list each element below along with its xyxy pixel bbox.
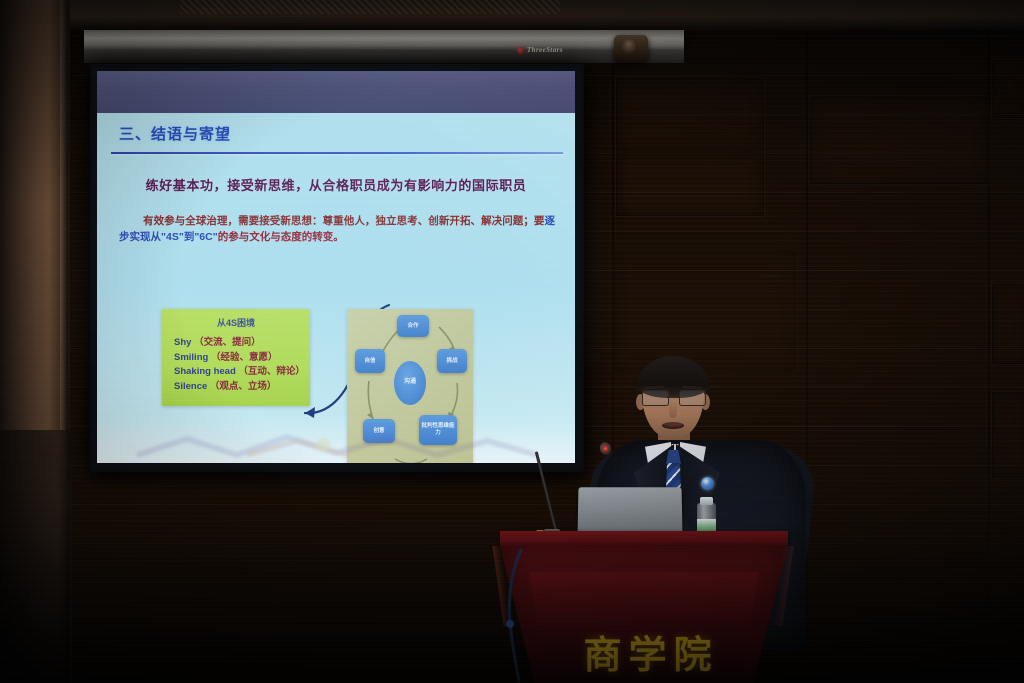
slide-title: 三、结语与寄望: [119, 123, 231, 144]
microphone-status-led: [603, 446, 608, 451]
mouth: [662, 422, 684, 429]
wall-panel-inset: [992, 60, 1024, 118]
nose: [669, 402, 677, 418]
diagram-center-node: 沟通: [394, 361, 426, 405]
diagram-node-left: 自信: [355, 349, 385, 373]
slide-headline: 练好基本功，接受新思维，从合格职员成为有影响力的国际职员: [97, 175, 575, 194]
wall-vertical-joint: [988, 0, 990, 683]
body-quote-4s: "4S": [161, 231, 184, 243]
bottle-cap: [700, 497, 713, 505]
slide-title-divider: [111, 152, 563, 154]
diagram-node-right: 挑战: [437, 349, 467, 373]
body-prefix: 有效参与全球治理，需要接受新思想：尊重他人，独立思考、创新开拓、解决问题；要: [143, 215, 545, 227]
body-quote-6c: "6C": [194, 231, 217, 243]
body-mid: 到: [184, 231, 195, 243]
round-blue-badge-icon: [701, 477, 714, 490]
lecture-hall-photo: ThreeStars 三、结语与寄望 练好基本功，接受新思维，从合格职员成为有影…: [0, 0, 1024, 683]
lens-right: [679, 390, 706, 406]
wall-panel-inset: [992, 284, 1024, 364]
body-suffix: 的参与文化与态度的转变。: [218, 231, 344, 243]
slide-header-band: [97, 71, 575, 113]
wall-panel-inset: [616, 152, 764, 216]
ceiling: [0, 0, 1024, 30]
slide-body-text: 有效参与全球治理，需要接受新思想：尊重他人，独立思考、创新开拓、解决问题；要逐步…: [119, 213, 555, 246]
diagram-node-top: 合作: [397, 315, 429, 337]
presentation-slide: 三、结语与寄望 练好基本功，接受新思维，从合格职员成为有影响力的国际职员 有效参…: [97, 71, 575, 463]
star-logo-icon: [517, 47, 524, 54]
lens-left: [642, 390, 669, 406]
podium-desktop: [500, 531, 788, 548]
pillar-shading: [0, 0, 70, 683]
projection-screen: 三、结语与寄望 练好基本功，接受新思维，从合格职员成为有影响力的国际职员 有效参…: [90, 64, 584, 472]
podium-inscription: 商学院: [566, 624, 736, 679]
projector-brand-label: ThreeStars: [527, 46, 563, 54]
laptop-lid: [578, 487, 683, 535]
ceiling-texture: [180, 0, 560, 14]
projector-valance: [84, 30, 684, 52]
wall-vertical-joint: [806, 0, 808, 683]
wall-panel-inset: [616, 78, 764, 152]
valance-shadow: [84, 50, 684, 63]
slide-watermark-icon: [127, 433, 547, 459]
projector-lens-icon: [622, 38, 638, 54]
wall-panel-inset: [992, 392, 1024, 478]
wall-panel-inset: [810, 96, 988, 184]
glasses-bridge: [667, 396, 679, 398]
